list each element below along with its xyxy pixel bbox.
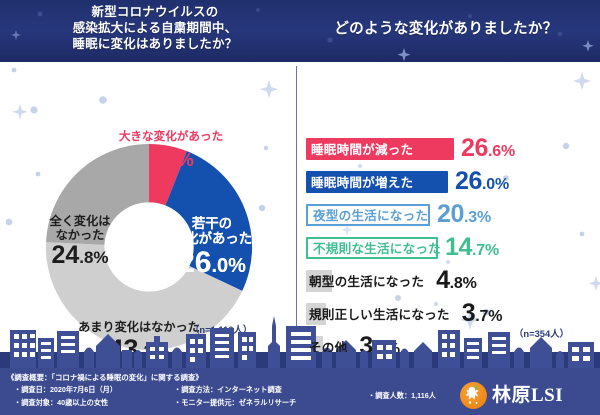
bar-label-morning-type: 朝型の生活になった: [306, 270, 429, 292]
hayashibara-bird-icon: [460, 382, 487, 409]
bar-value-sleep-decreased: 26.6%: [461, 136, 515, 161]
donut-label-slight-change-line2: 変化があった: [150, 231, 274, 246]
donut-label-slight-change-value: 26.0%: [150, 248, 274, 278]
donut-label-no-change-value: 24.8%: [24, 243, 136, 268]
survey-target: ・調査対象：40歳以上の女性: [14, 398, 108, 408]
bar-row: 朝型の生活になった 4.8%: [306, 264, 598, 297]
header-band: 新型コロナウイルスの 感染拡大による自粛期間中、 睡眠に変化はありましたか？ ど…: [0, 0, 600, 62]
bar-row: 不規則な生活になった 14.7%: [306, 231, 598, 264]
bar-row: 睡眠時間が増えた 26.0%: [306, 165, 598, 198]
survey-date: ・調査日：2020年7月6日（月）: [14, 385, 117, 395]
page-title-right: どのような変化がありましたか？: [300, 20, 592, 39]
page-title-left-line2: 感染拡大による自粛期間中、: [73, 21, 238, 35]
donut-label-no-change-line2: なかった: [24, 229, 136, 243]
city-skyline-silhouette: [0, 316, 600, 368]
survey-overview-heading: 《調査概要：「コロナ禍による睡眠の変化」に関する調査》: [7, 372, 203, 383]
donut-label-large-change-value: 6.0%: [81, 144, 261, 170]
survey-monitor-provider: ・モニター提供元：ゼネラルリサーチ: [174, 398, 296, 408]
company-logo-text: 林原LSI: [492, 386, 563, 405]
donut-label-large-change-text: 大きな変化があった: [81, 130, 261, 143]
donut-label-no-change-line1: 全く変化は: [24, 215, 136, 229]
page-title-left: 新型コロナウイルスの 感染拡大による自粛期間中、 睡眠に変化はありましたか？: [14, 5, 296, 53]
survey-sample-count: ・調査人数：1,116人: [368, 391, 436, 401]
donut-label-large-change: 大きな変化があった 6.0%: [81, 130, 261, 170]
infographic-root: 新型コロナウイルスの 感染拡大による自粛期間中、 睡眠に変化はありましたか？ ど…: [0, 0, 600, 415]
bar-label-sleep-increased: 睡眠時間が増えた: [306, 171, 448, 193]
bar-value-irregular-life: 14.7%: [445, 235, 499, 260]
donut-label-slight-change: 若干の 変化があった 26.0%: [150, 216, 274, 278]
bar-label-regular-life: 規則正しい生活になった: [306, 303, 455, 325]
page-title-left-line1: 新型コロナウイルスの: [92, 5, 219, 19]
bar-value-sleep-increased: 26.0%: [455, 169, 509, 194]
bar-row: 夜型の生活になった 20.3%: [306, 198, 598, 231]
company-logo[interactable]: 林原LSI: [460, 379, 592, 411]
bar-value-morning-type: 4.8%: [436, 268, 477, 293]
bar-label-night-type: 夜型の生活になった: [306, 204, 430, 226]
bar-label-sleep-decreased: 睡眠時間が減った: [306, 138, 454, 160]
bar-row: 睡眠時間が減った 26.6%: [306, 132, 598, 165]
content-panel: 大きな変化があった 6.0% 若干の 変化があった 26.0% 全く変化は なか…: [0, 62, 600, 352]
donut-label-slight-change-line1: 若干の: [150, 216, 274, 231]
bar-label-irregular-life: 不規則な生活になった: [306, 237, 438, 259]
donut-label-no-change: 全く変化は なかった 24.8%: [24, 215, 136, 268]
page-title-left-line3: 睡眠に変化はありましたか？: [73, 37, 238, 51]
bar-value-night-type: 20.3%: [437, 202, 491, 227]
panel-divider: [296, 66, 297, 328]
survey-method: ・調査方法：インターネット調査: [174, 385, 282, 395]
bar-label-other: その他: [306, 336, 352, 353]
